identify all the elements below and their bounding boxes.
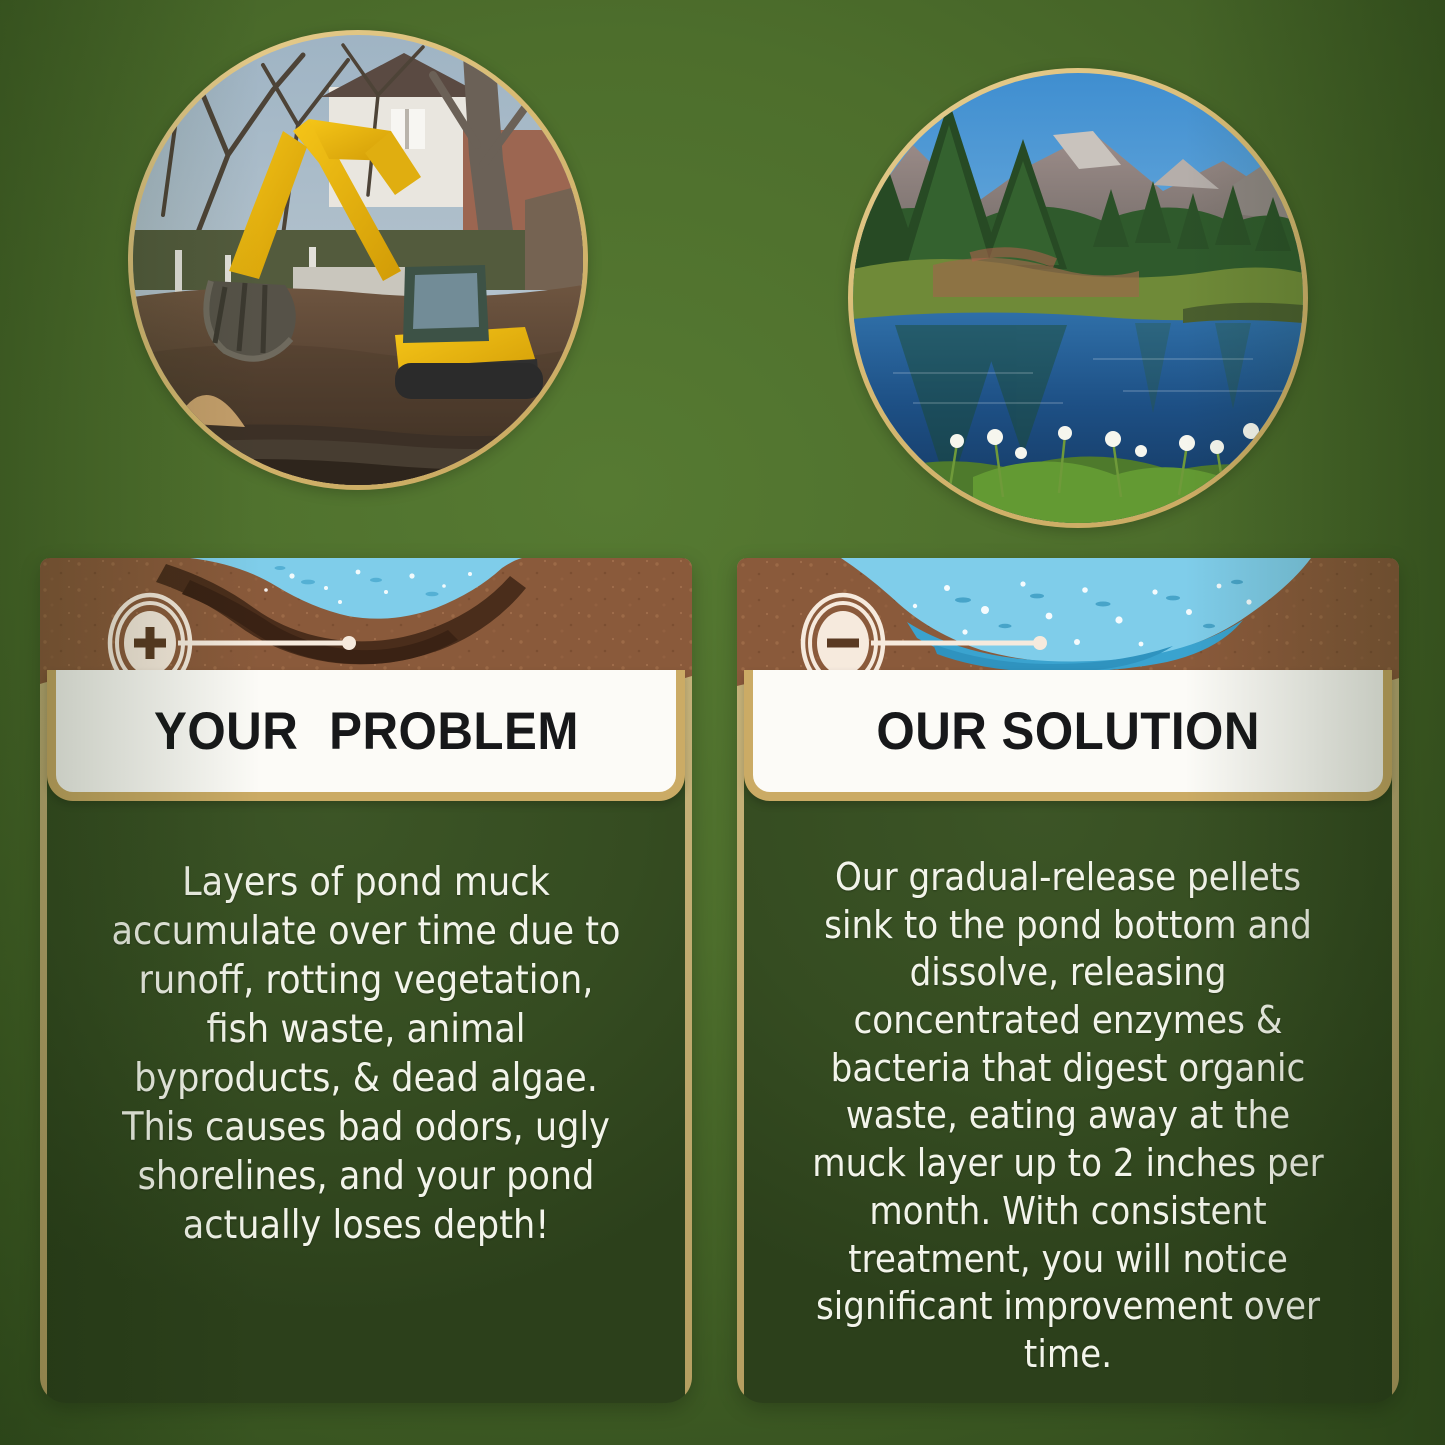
problem-body-text: Layers of pond muck accumulate over time… (103, 859, 629, 1251)
clear-mountain-lake-photo (853, 73, 1303, 523)
photo-frame-solution (848, 68, 1308, 528)
page-title-solution: OUR SOLUTION (876, 701, 1259, 762)
infographic-canvas: YOUR PROBLEM Layers of pond muck accumul… (0, 0, 1445, 1445)
solution-body-text: Our gradual-release pellets sink to the … (801, 854, 1336, 1379)
problem-card: YOUR PROBLEM Layers of pond muck accumul… (40, 558, 692, 1403)
problem-heading-band: YOUR PROBLEM (47, 670, 685, 801)
page-title-problem: YOUR PROBLEM (154, 701, 579, 762)
solution-heading-band: OUR SOLUTION (744, 670, 1392, 801)
solution-card: OUR SOLUTION Our gradual-release pellets… (737, 558, 1399, 1403)
excavator-dredging-muddy-pond-photo (133, 35, 583, 485)
photo-frame-problem (128, 30, 588, 490)
